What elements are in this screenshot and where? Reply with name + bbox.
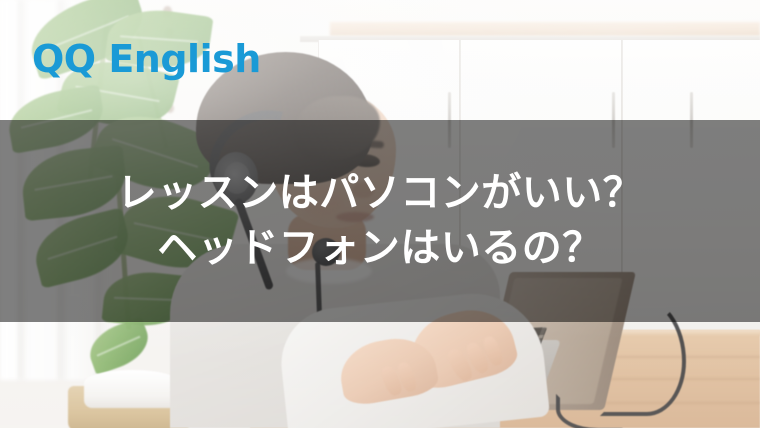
brand-logo[interactable]: QQ English bbox=[32, 40, 261, 78]
thumbnail-canvas: QQ English レッスンはパソコンがいい？ ヘッドフォンはいるの？ bbox=[0, 0, 760, 428]
laptop-cable bbox=[556, 394, 626, 428]
headline-line-1: レッスンはパソコンがいい？ bbox=[117, 170, 644, 217]
cabinet-shelf bbox=[330, 22, 760, 36]
headline-block: レッスンはパソコンがいい？ ヘッドフォンはいるの？ bbox=[0, 120, 760, 322]
white-plant-pot bbox=[84, 370, 180, 408]
headline-line-2: ヘッドフォンはいるの？ bbox=[157, 225, 603, 272]
